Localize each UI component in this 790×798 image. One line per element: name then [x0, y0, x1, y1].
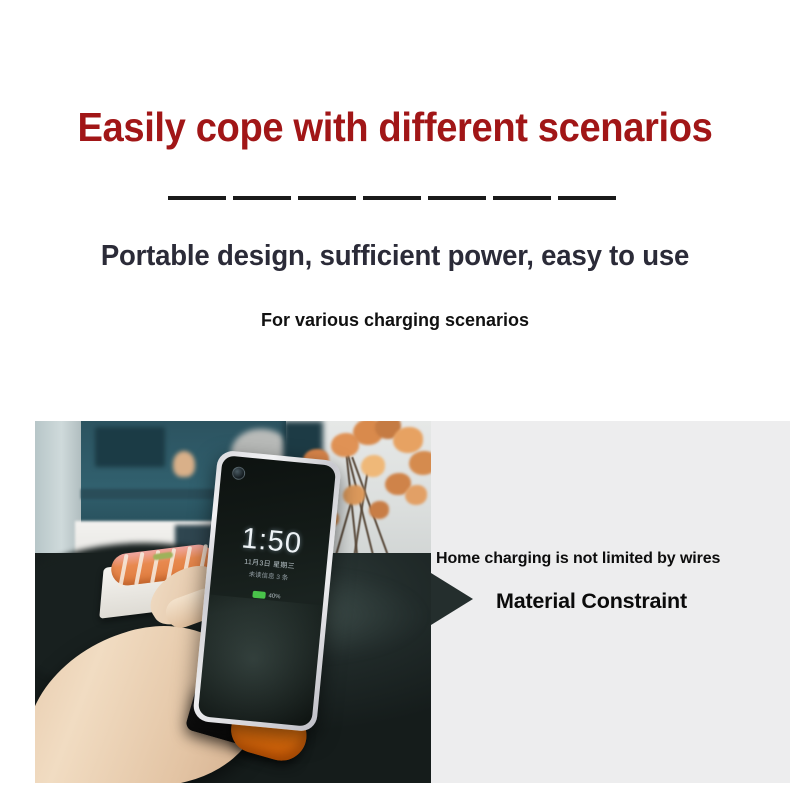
battery-icon — [252, 591, 266, 599]
tagline: For various charging scenarios — [0, 309, 790, 331]
flower-petal — [409, 451, 431, 475]
flower-petal — [405, 485, 427, 505]
flower-petal — [361, 455, 385, 477]
subtitle: Portable design, sufficient power, easy … — [20, 239, 771, 273]
front-camera-icon — [232, 466, 246, 480]
battery-percent-label: 40% — [268, 593, 281, 600]
smartphone: 1:50 11月3日 星期三 未读信息 3 条 40% — [192, 450, 341, 733]
phone-screen-reflection — [198, 594, 337, 727]
caption-primary: Home charging is not limited by wires — [436, 549, 756, 569]
feature-panel: THUNDER 1:50 11月3日 星期三 未读信息 3 条 40% Home… — [35, 421, 790, 783]
phone-screen: 1:50 11月3日 星期三 未读信息 3 条 40% — [198, 455, 337, 727]
flower-petal — [343, 485, 365, 505]
page-title: Easily cope with different scenarios — [28, 104, 763, 150]
pointer-arrow-icon — [431, 573, 473, 625]
scene-cabinet-recess — [95, 427, 165, 467]
flower-petal — [393, 427, 423, 453]
title-divider — [168, 196, 620, 200]
flower-petal — [369, 501, 389, 519]
caption-secondary: Material Constraint — [496, 588, 746, 614]
product-photo: THUNDER 1:50 11月3日 星期三 未读信息 3 条 40% — [35, 421, 431, 783]
scene-cabinet-object — [173, 451, 195, 477]
